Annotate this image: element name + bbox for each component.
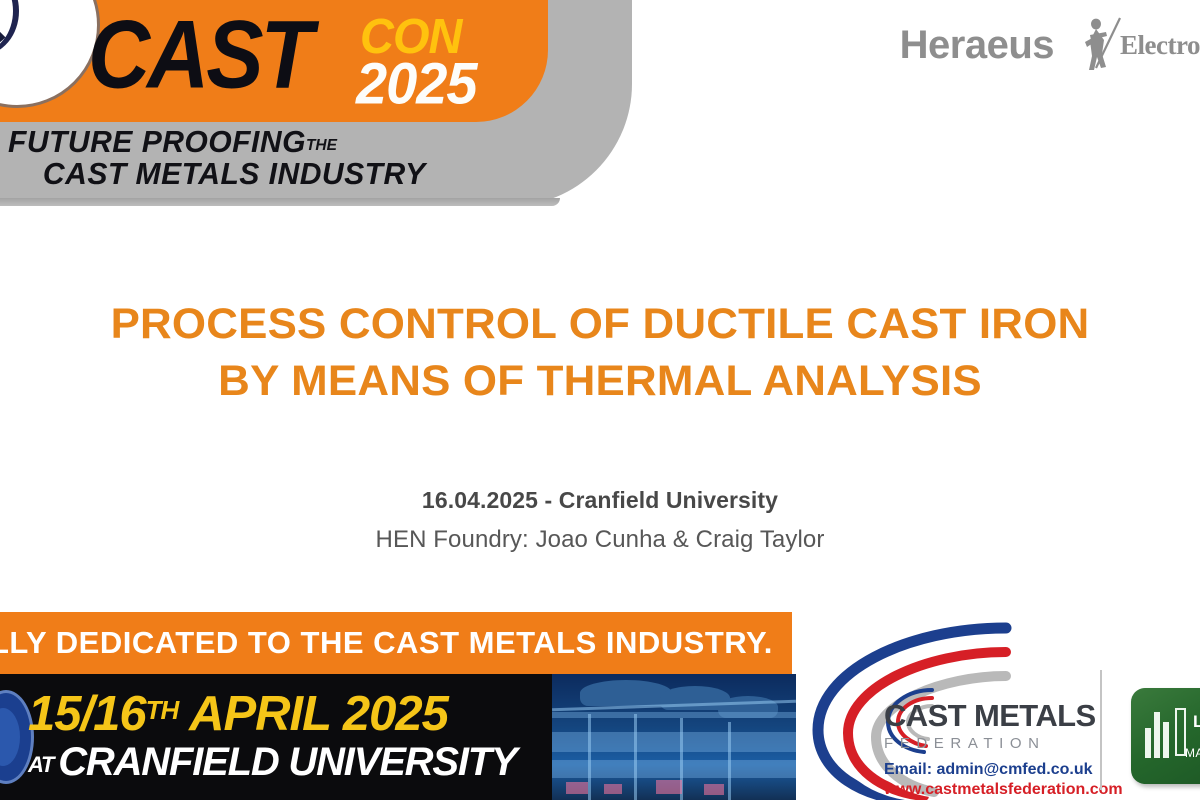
page-title: PROCESS CONTROL OF DUCTILE CAST IRON BY … [0, 296, 1200, 410]
sponsor-name: LGEn [1193, 712, 1200, 732]
subtitle-authors: HEN Foundry: Joao Cunha & Craig Taylor [0, 522, 1200, 558]
subtitle-block: 16.04.2025 - Cranfield University HEN Fo… [0, 484, 1200, 558]
presentation-slide: CAST CON 2025 FUTURE PROOFINGTHE CAST ME… [0, 0, 1200, 800]
sponsor-role: MAIN S [1185, 746, 1200, 760]
event-date-number: 15/16 [28, 687, 146, 741]
event-date-ordinal: TH [146, 695, 179, 725]
event-date-month-year: APRIL 2025 [178, 687, 448, 741]
strapline-line-1-main: FUTURE PROOFING [8, 124, 306, 159]
heraeus-division-text: Electro [1120, 30, 1200, 61]
brand-cast-text: CAST [88, 10, 310, 101]
bottom-orange-strip-text: LLY DEDICATED TO THE CAST METALS INDUSTR… [0, 625, 773, 661]
cmf-subname: FEDERATION [884, 733, 1104, 756]
top-banner: CAST CON 2025 FUTURE PROOFINGTHE CAST ME… [0, 0, 660, 208]
divider [1100, 670, 1102, 790]
heraeus-brand-text: Heraeus [900, 23, 1054, 68]
strapline-the-text: THE [306, 137, 337, 154]
castcon-strapline: FUTURE PROOFINGTHE CAST METALS INDUSTRY [8, 126, 538, 189]
castcon-wordmark: CAST CON 2025 [88, 6, 518, 122]
cmf-email[interactable]: Email: admin@cmfed.co.uk [884, 759, 1104, 781]
event-date-block: 15/16TH APRIL 2025 AT CRANFIELD UNIVERSI… [28, 690, 548, 783]
strapline-line-1: FUTURE PROOFINGTHE [8, 126, 522, 158]
cmf-website[interactable]: www.castmetalsfederation.com [884, 780, 1104, 800]
title-line-2: BY MEANS OF THERMAL ANALYSIS [0, 353, 1200, 410]
title-line-1: PROCESS CONTROL OF DUCTILE CAST IRON [0, 296, 1200, 353]
event-venue-line: AT CRANFIELD UNIVERSITY [28, 742, 548, 783]
brand-year-text: 2025 [356, 54, 477, 113]
sponsor-bars-icon [1145, 706, 1187, 758]
bottom-orange-strip: LLY DEDICATED TO THE CAST METALS INDUSTR… [0, 612, 792, 674]
event-date-line: 15/16TH APRIL 2025 [28, 690, 548, 740]
heraeus-figure-icon [1076, 16, 1124, 74]
banner-grey-shadow [0, 198, 560, 206]
cmf-text-block: CAST METALS FEDERATION Email: admin@cmfe… [884, 700, 1104, 800]
subtitle-date-venue: 16.04.2025 - Cranfield University [0, 484, 1200, 517]
heraeus-logo: Heraeus Electro [900, 16, 1200, 74]
cast-metals-federation-logo: CAST METALS FEDERATION Email: admin@cmfe… [756, 620, 1106, 800]
event-venue-name: CRANFIELD UNIVERSITY [58, 740, 516, 784]
main-sponsor-badge[interactable]: LGEn MAIN S [1131, 688, 1200, 784]
event-venue-prefix: AT [28, 752, 58, 777]
strapline-line-2: CAST METALS INDUSTRY [8, 158, 522, 190]
cmf-name: CAST METALS [884, 700, 1104, 731]
bottom-banner: LLY DEDICATED TO THE CAST METALS INDUSTR… [0, 612, 1200, 800]
